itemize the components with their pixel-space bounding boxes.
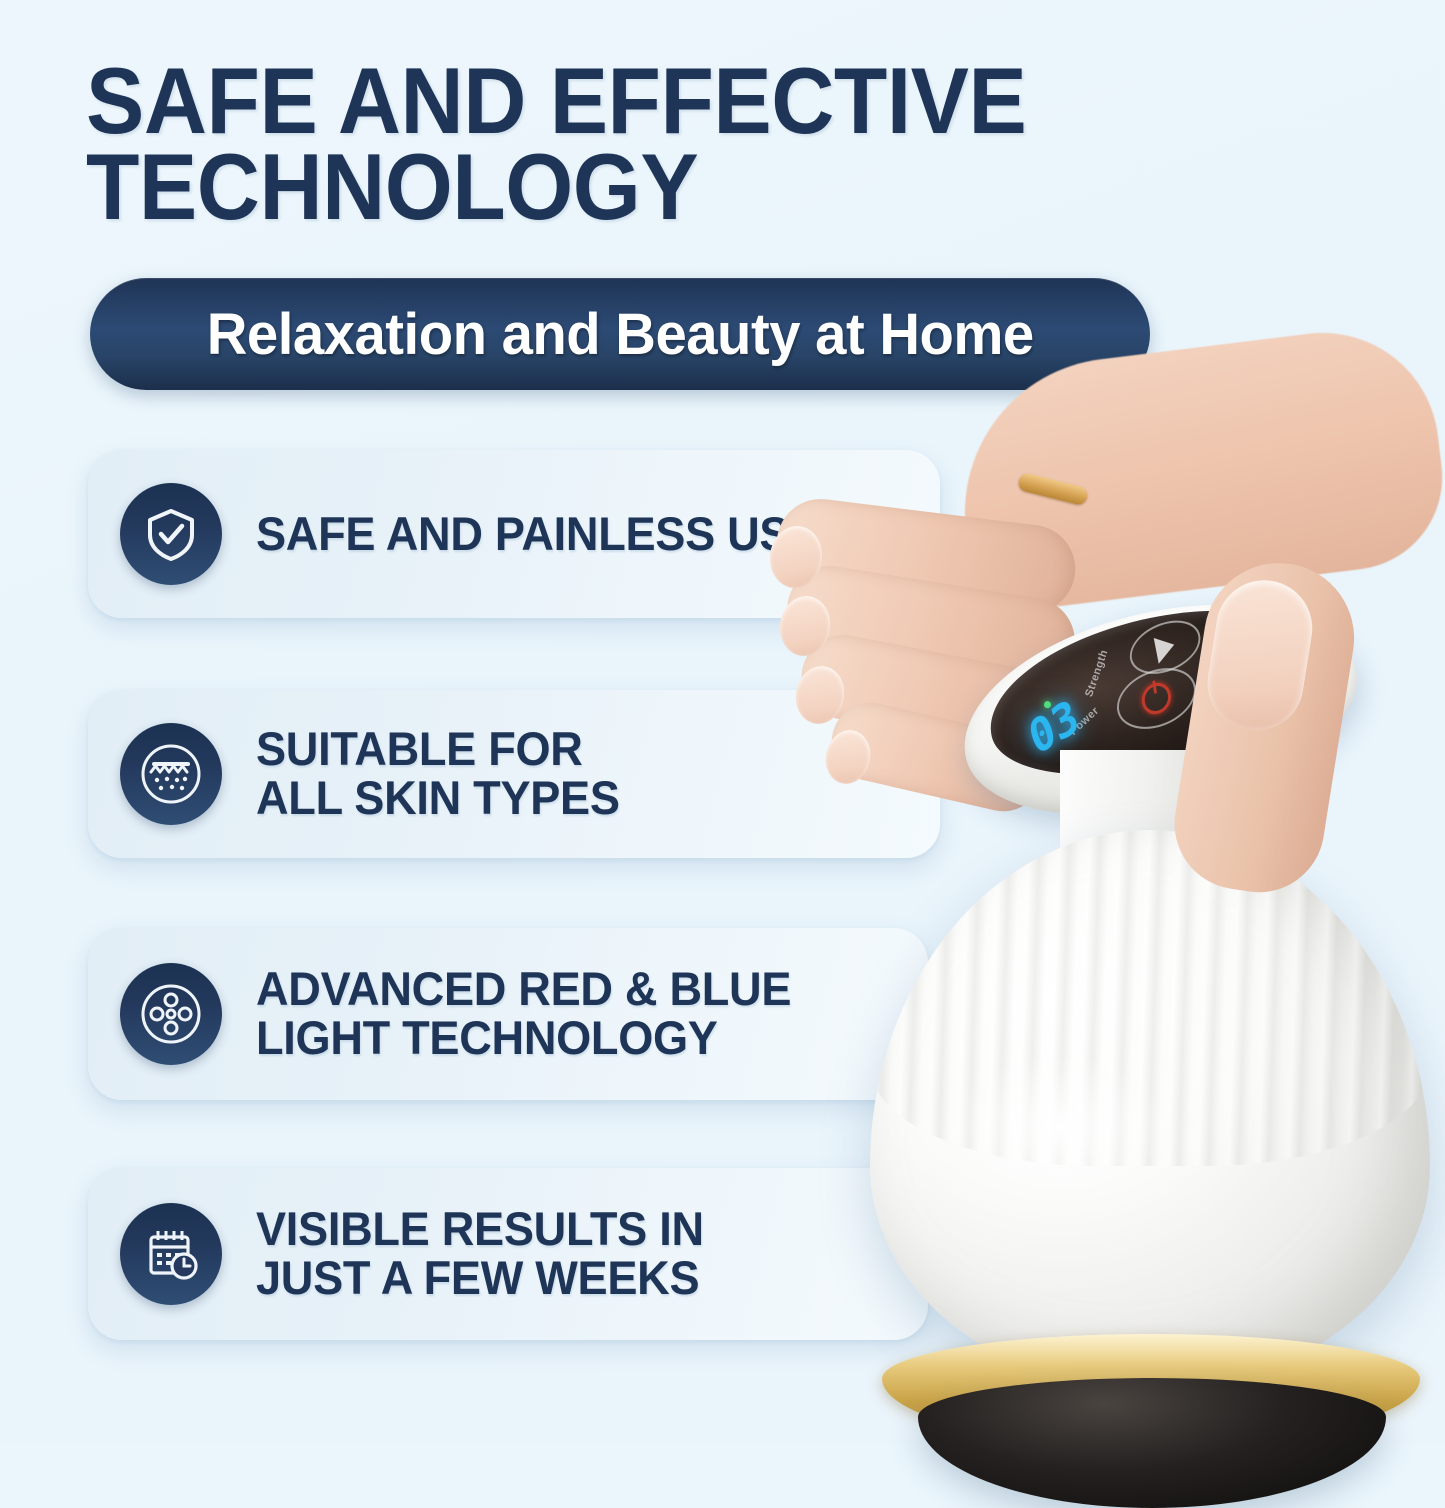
- feature-label: ADVANCED RED & BLUE LIGHT TECHNOLOGY: [256, 965, 791, 1063]
- device-body: [870, 830, 1430, 1390]
- power-button[interactable]: [1113, 659, 1200, 739]
- device-highlight: [948, 1054, 1172, 1200]
- feature-icon-badge: [120, 963, 222, 1065]
- poster-canvas: SAFE AND EFFECTIVE TECHNOLOGY Relaxation…: [0, 0, 1445, 1445]
- device-base: [918, 1378, 1386, 1508]
- feature-label: VISIBLE RESULTS IN JUST A FEW WEEKS: [256, 1205, 704, 1303]
- feature-label: SAFE AND PAINLESS USE: [256, 510, 819, 559]
- product-image: Strength Power Mode 03: [760, 330, 1445, 1450]
- power-icon: [1140, 679, 1173, 718]
- skin-layers-icon: [138, 741, 204, 807]
- shield-check-icon: [140, 503, 202, 565]
- feature-icon-badge: [120, 1203, 222, 1305]
- page-title: SAFE AND EFFECTIVE TECHNOLOGY: [86, 58, 1072, 231]
- headline-line-2: TECHNOLOGY: [86, 144, 1072, 230]
- strength-label: Strength: [1083, 648, 1110, 698]
- feature-icon-badge: [120, 483, 222, 585]
- feature-icon-badge: [120, 723, 222, 825]
- feature-label: SUITABLE FOR ALL SKIN TYPES: [256, 725, 620, 823]
- calendar-clock-icon: [139, 1222, 203, 1286]
- triangle-arrow-icon: [1154, 631, 1177, 663]
- led-array-icon: [138, 981, 204, 1047]
